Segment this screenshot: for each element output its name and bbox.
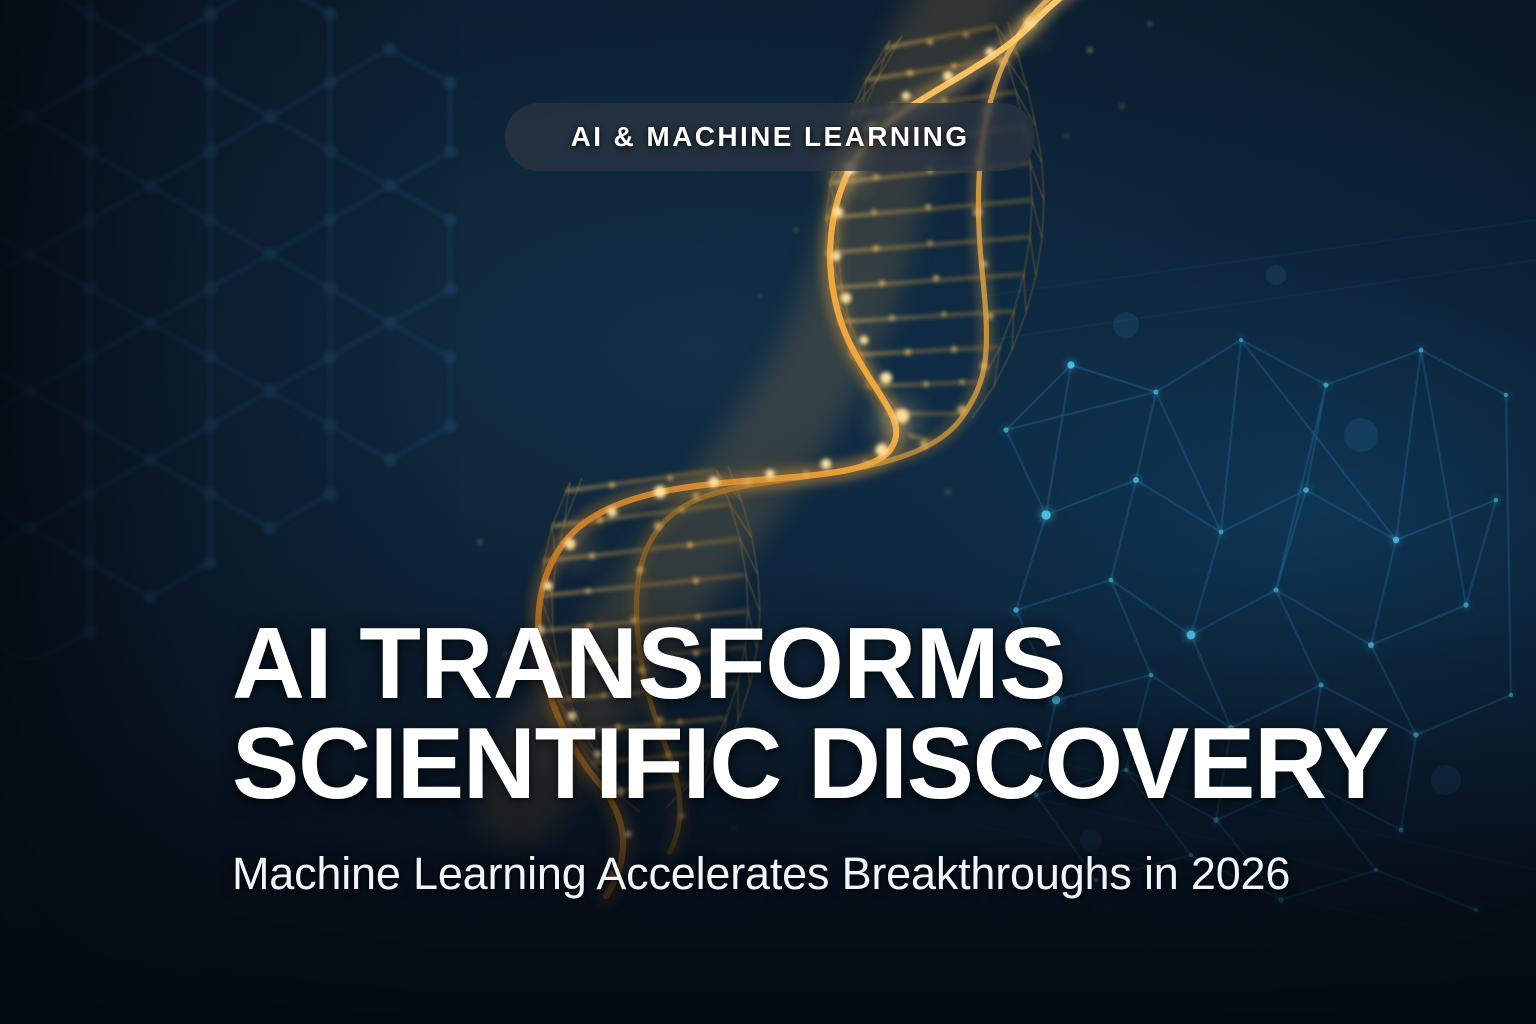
- page-title-line-1: AI TRANSFORMS: [232, 614, 1432, 714]
- hero-banner: AI & MACHINE LEARNING AI TRANSFORMS SCIE…: [0, 0, 1536, 1024]
- page-subtitle: Machine Learning Accelerates Breakthroug…: [232, 847, 1432, 901]
- category-badge-label: AI & MACHINE LEARNING: [571, 121, 970, 153]
- category-badge[interactable]: AI & MACHINE LEARNING: [505, 103, 1035, 171]
- page-title-line-2: SCIENTIFIC DISCOVERY: [232, 714, 1432, 814]
- hero-text-block: AI TRANSFORMS SCIENTIFIC DISCOVERY Machi…: [232, 614, 1432, 901]
